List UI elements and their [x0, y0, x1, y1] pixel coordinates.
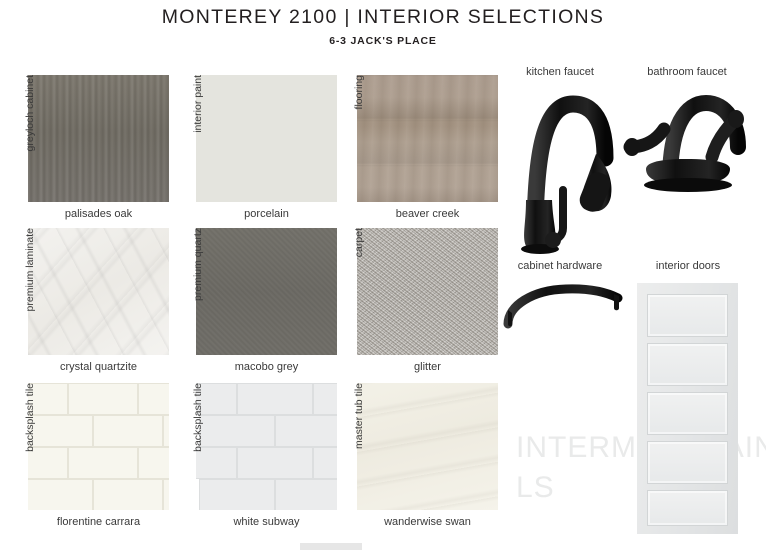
swatch-name-macobo-grey: macobo grey	[196, 361, 337, 373]
cabinet-hardware-image[interactable]	[498, 280, 633, 330]
swatch-category-label-wrap: greyloch cabinet	[22, 75, 38, 202]
swatch-name-crystal-quartzite: crystal quartzite	[28, 361, 169, 373]
swatch-category-master-tub-tile: master tub tile	[351, 383, 367, 510]
swatch-category-premium-laminate: premium laminate	[22, 228, 38, 355]
swatch-category-backsplash-tile-subway: backsplash tile	[190, 383, 206, 510]
swatch-category-carpet: carpet	[351, 228, 367, 355]
bottom-edge-strip	[300, 543, 362, 550]
swatch-interior-paint[interactable]	[196, 75, 337, 202]
tile-pattern-brick	[28, 383, 169, 510]
page-title: MONTEREY 2100 | INTERIOR SELECTIONS	[0, 6, 766, 29]
swatch-category-label-wrap: backsplash tile	[22, 383, 38, 510]
swatch-category-label-wrap: premium quartz	[190, 228, 206, 355]
swatch-carpet[interactable]	[357, 228, 498, 355]
swatch-category-label-wrap: carpet	[351, 228, 367, 355]
swatch-category-label-wrap: premium laminate	[22, 228, 38, 355]
swatch-category-label-wrap: flooring	[351, 75, 367, 202]
door-panel	[647, 343, 728, 386]
swatch-name-palisades-oak: palisades oak	[28, 208, 169, 220]
swatch-name-white-subway: white subway	[196, 516, 337, 528]
product-label-cabinet-hardware: cabinet hardware	[490, 260, 630, 272]
kitchen-faucet-icon	[495, 80, 625, 255]
swatch-premium-quartz[interactable]	[196, 228, 337, 355]
swatch-name-glitter: glitter	[357, 361, 498, 373]
bathroom-faucet-image[interactable]	[612, 85, 762, 195]
kitchen-faucet-image[interactable]	[495, 80, 625, 255]
tile-pattern-brick	[196, 383, 337, 510]
swatch-category-interior-paint: interior paint	[190, 75, 206, 202]
bathroom-faucet-icon	[612, 85, 762, 195]
swatch-category-premium-quartz: premium quartz	[190, 228, 206, 355]
swatch-premium-laminate[interactable]	[28, 228, 169, 355]
swatch-master-tub-tile[interactable]	[357, 383, 498, 510]
swatch-category-label-wrap: interior paint	[190, 75, 206, 202]
swatch-category-flooring: flooring	[351, 75, 367, 202]
swatch-category-backsplash-tile-carrara: backsplash tile	[22, 383, 38, 510]
swatch-name-beaver-creek: beaver creek	[357, 208, 498, 220]
swatch-name-porcelain: porcelain	[196, 208, 337, 220]
board-header: MONTEREY 2100 | INTERIOR SELECTIONS 6-3 …	[0, 6, 766, 47]
cabinet-pull-icon	[498, 280, 633, 330]
product-label-interior-doors: interior doors	[632, 260, 744, 272]
swatch-name-wanderwise-swan: wanderwise swan	[357, 516, 498, 528]
product-label-kitchen-faucet: kitchen faucet	[490, 66, 630, 78]
swatch-category-label-wrap: backsplash tile	[190, 383, 206, 510]
door-panel	[647, 392, 728, 435]
door-panel	[647, 441, 728, 484]
door-panel	[647, 490, 728, 526]
door-panel	[647, 294, 728, 337]
page-subtitle: 6-3 JACK'S PLACE	[0, 35, 766, 47]
swatch-category-greyloch-cabinet: greyloch cabinet	[22, 75, 38, 202]
interior-selections-board: MONTEREY 2100 | INTERIOR SELECTIONS 6-3 …	[0, 0, 766, 550]
product-label-bathroom-faucet: bathroom faucet	[612, 66, 762, 78]
swatch-name-florentine-carrara: florentine carrara	[28, 516, 169, 528]
swatch-greyloch-cabinet[interactable]	[28, 75, 169, 202]
swatch-backsplash-white-subway[interactable]	[196, 383, 337, 510]
swatch-flooring[interactable]	[357, 75, 498, 202]
swatch-category-label-wrap: master tub tile	[351, 383, 367, 510]
interior-door-image[interactable]	[637, 283, 738, 534]
swatch-backsplash-florentine-carrara[interactable]	[28, 383, 169, 510]
